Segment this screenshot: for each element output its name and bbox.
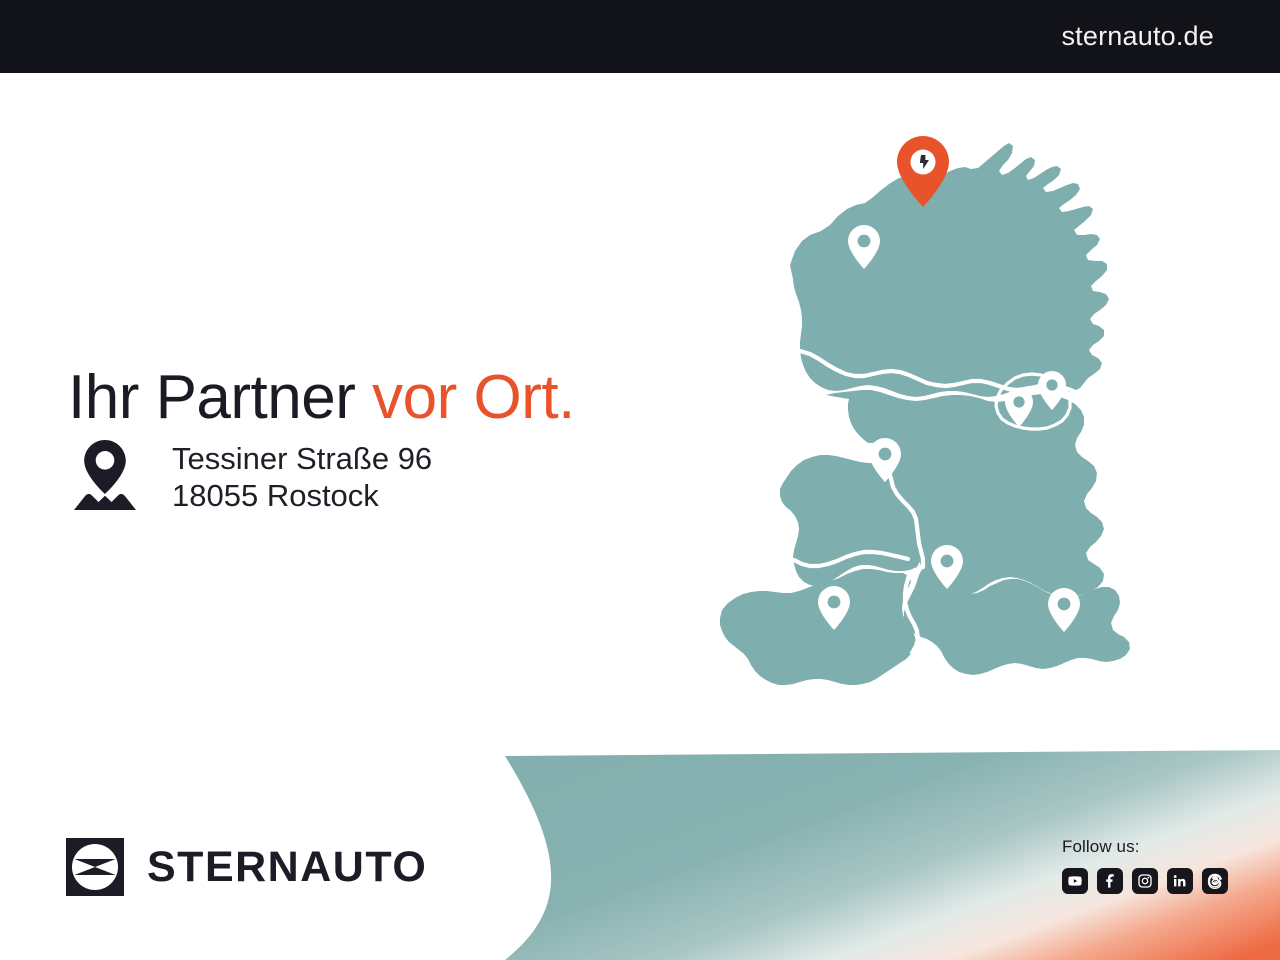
address-city: 18055 Rostock [172,478,432,515]
address-block: Tessiner Straße 96 18055 Rostock [72,436,432,514]
facebook-icon[interactable] [1097,868,1123,894]
follow-us-label: Follow us: [1062,837,1140,857]
site-url: sternauto.de [1061,21,1280,52]
region-mecklenburg-vorpommern [790,143,1109,397]
location-pin-icon [72,438,138,512]
youtube-icon[interactable] [1062,868,1088,894]
address-lines: Tessiner Straße 96 18055 Rostock [172,436,432,514]
threads-icon[interactable] [1202,868,1228,894]
headline-primary: Ihr Partner [68,363,372,432]
instagram-icon[interactable] [1132,868,1158,894]
linkedin-icon[interactable] [1167,868,1193,894]
sternauto-logo-mark-icon [66,838,124,896]
social-links [1062,868,1228,894]
content-stage: Ihr Partner vor Ort. Tessiner Straße 96 … [0,73,1280,960]
sternauto-wordmark: STERNAUTO [147,846,427,889]
headline-accent: vor Ort. [372,363,575,432]
follow-us-block: Follow us: [1062,837,1228,894]
page-title: Ihr Partner vor Ort. [68,365,575,430]
address-street: Tessiner Straße 96 [172,441,432,478]
top-bar: sternauto.de [0,0,1280,73]
germany-east-map [690,83,1230,743]
sternauto-logo[interactable]: STERNAUTO [66,838,427,896]
region-thueringen [720,569,916,685]
